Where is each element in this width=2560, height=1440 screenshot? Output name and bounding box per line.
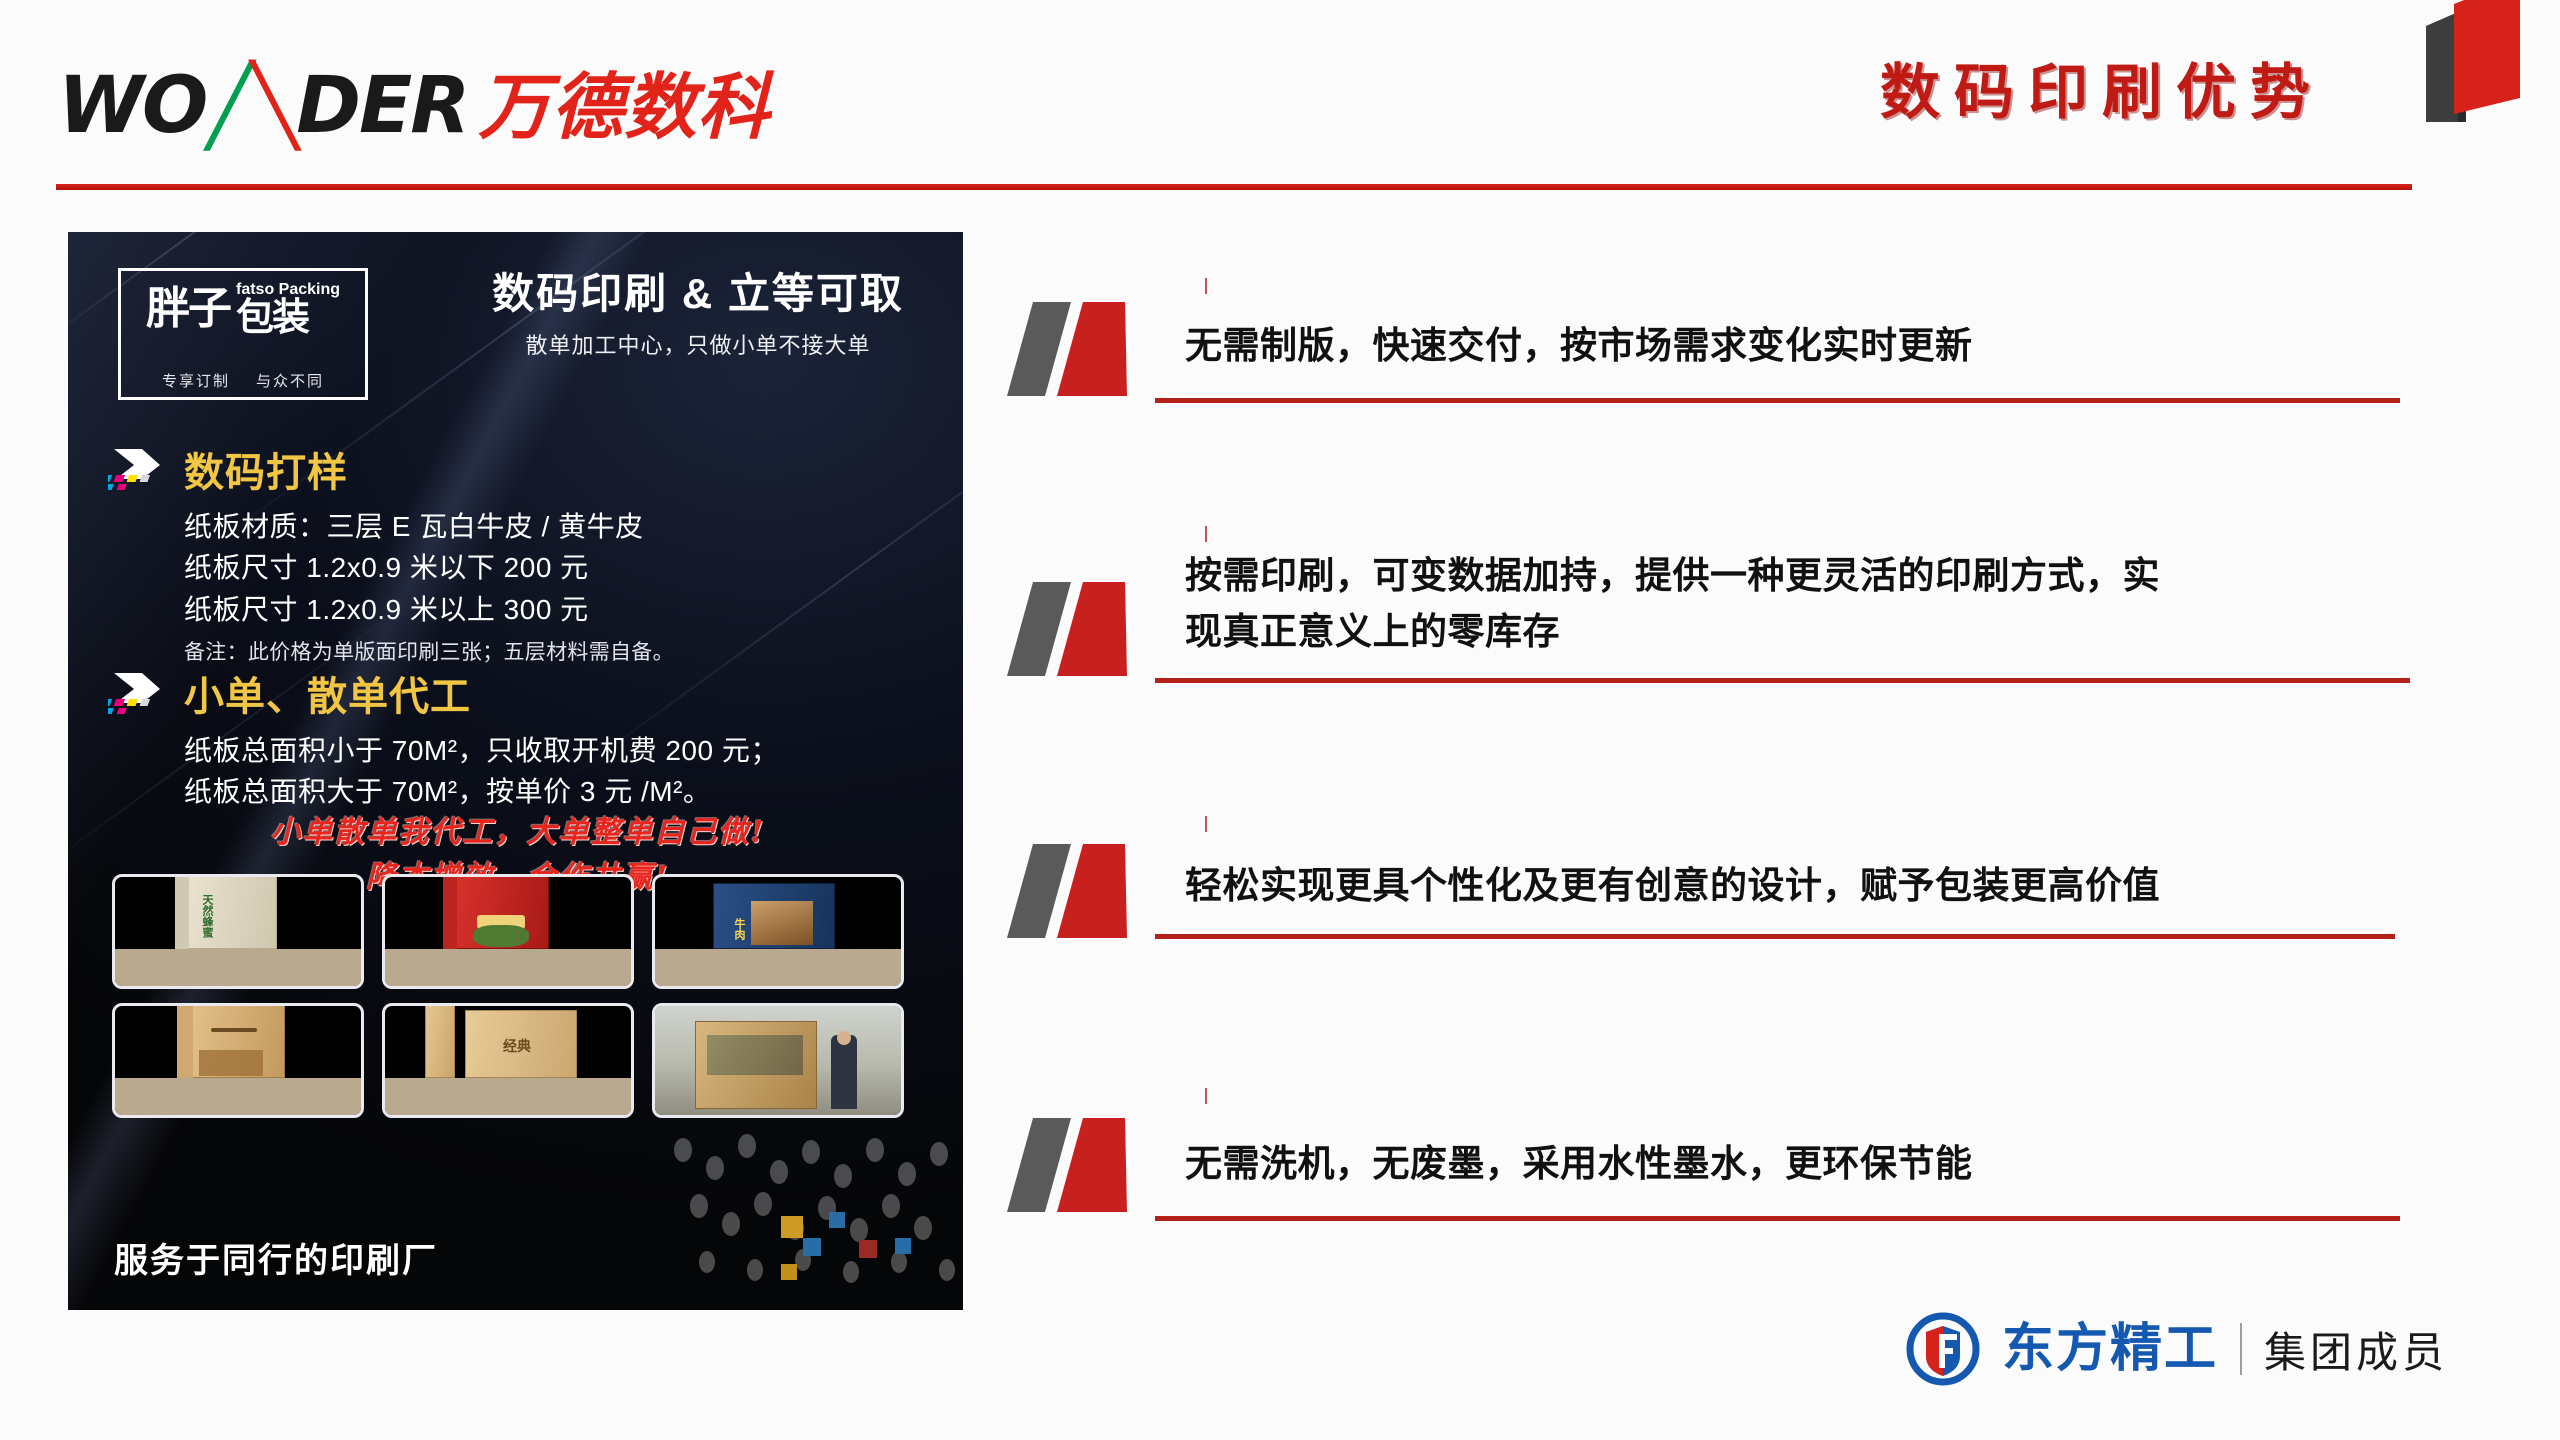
section-line: 纸板尺寸 1.2x0.9 米以上 300 元 — [184, 589, 928, 630]
slide-root: WO╱╲DER 万德数科 数码印刷优势 胖子 fatso Packing 包装 … — [0, 0, 2560, 1440]
footer-divider — [2240, 1323, 2242, 1375]
promo-poster: 胖子 fatso Packing 包装 专享订制 与众不同 数码印刷 & 立等可… — [68, 232, 963, 1310]
section-line: 纸板材质：三层 E 瓦白牛皮 / 黄牛皮 — [184, 506, 928, 547]
footer-member-label: 集团成员 — [2264, 1319, 2448, 1380]
slogan-line-1: 小单散单我代工，大单整单自己做! — [108, 810, 928, 855]
bullet-tick — [1205, 278, 1207, 294]
fatso-logo-cn: 胖子 — [146, 287, 230, 331]
section-line: 纸板总面积小于 70M²，只收取开机费 200 元； — [184, 730, 928, 771]
bullet-text: 无需洗机，无废墨，采用水性墨水，更环保节能 — [1185, 1136, 1973, 1192]
fosber-shield-icon — [1906, 1312, 1980, 1386]
bullet-underline — [1155, 678, 2410, 683]
fatso-tag-left: 专享订制 — [162, 370, 230, 391]
bullet-tick — [1205, 816, 1207, 832]
product-gallery: 天然蜂蜜 牛肉 — [112, 874, 922, 1118]
footer-brand: 东方精工 集团成员 — [1906, 1312, 2448, 1386]
poster-headline: 数码印刷 & 立等可取 — [468, 270, 928, 318]
chevron-marker-icon — [1005, 1112, 1175, 1218]
poster-section-oem: 小单、散单代工 纸板总面积小于 70M²，只收取开机费 200 元； 纸板总面积… — [108, 664, 928, 813]
bullet-line: 无需洗机，无废墨，采用水性墨水，更环保节能 — [1185, 1136, 1973, 1192]
bullet-text: 按需印刷，可变数据加持，提供一种更灵活的印刷方式，实 现真正意义上的零库存 — [1185, 548, 2160, 659]
cmyk-chevron-icon — [108, 445, 170, 493]
bullet-underline — [1155, 1216, 2400, 1221]
cmyk-chevron-icon — [108, 669, 170, 717]
gallery-item-honey-gift-box: 天然蜂蜜 — [112, 874, 364, 989]
poster-caption: 服务于同行的印刷厂 — [114, 1233, 438, 1282]
chevron-marker-icon — [1005, 838, 1175, 944]
chevron-marker-icon — [1005, 576, 1175, 682]
header-divider — [56, 184, 2412, 190]
chevron-marker-icon — [1005, 296, 1175, 402]
section-title: 小单、散单代工 — [184, 664, 471, 722]
section-note: 备注：此价格为单版面印刷三张；五层材料需自备。 — [184, 636, 928, 666]
bullet-tick — [1205, 1088, 1207, 1104]
bullet-text: 无需制版，快速交付，按市场需求变化实时更新 — [1185, 318, 1973, 374]
gallery-item-classic-kraft-set: 经典 — [382, 1003, 634, 1118]
gallery-item-blue-beef-box: 牛肉 — [652, 874, 904, 989]
fatso-logo-cn2: 包装 — [236, 299, 340, 337]
poster-section-proofing: 数码打样 纸板材质：三层 E 瓦白牛皮 / 黄牛皮 纸板尺寸 1.2x0.9 米… — [108, 440, 928, 666]
gallery-item-red-gift-box — [382, 874, 634, 989]
bullet-text: 轻松实现更具个性化及更有创意的设计，赋予包装更高价值 — [1185, 858, 2160, 914]
brand-wordmark-cn: 万德数科 — [478, 48, 770, 153]
footer-company-name: 东方精工 — [2002, 1323, 2218, 1375]
bullet-underline — [1155, 398, 2400, 403]
section-title: 数码打样 — [184, 440, 348, 498]
bullet-line: 轻松实现更具个性化及更有创意的设计，赋予包装更高价值 — [1185, 858, 2160, 914]
bullet-line: 无需制版，快速交付，按市场需求变化实时更新 — [1185, 318, 1973, 374]
poster-subheadline: 散单加工中心，只做小单不接大单 — [468, 328, 928, 360]
bullet-tick — [1205, 526, 1207, 542]
halftone-dots-decoration — [663, 1120, 963, 1310]
section-line: 纸板总面积大于 70M²，按单价 3 元 /M²。 — [184, 771, 928, 812]
gallery-item-kraft-handle-box — [112, 1003, 364, 1118]
folded-page-icon — [2420, 0, 2538, 122]
bullet-line: 现真正意义上的零库存 — [1185, 604, 2160, 660]
fatso-tag-right: 与众不同 — [256, 370, 324, 391]
wonder-brand-logo: WO╱╲DER 万德数科 — [58, 48, 770, 128]
gallery-item-large-landscape-box — [652, 1003, 904, 1118]
section-line: 纸板尺寸 1.2x0.9 米以下 200 元 — [184, 547, 928, 588]
poster-headline-block: 数码印刷 & 立等可取 散单加工中心，只做小单不接大单 — [468, 270, 928, 360]
bullet-line: 按需印刷，可变数据加持，提供一种更灵活的印刷方式，实 — [1185, 548, 2160, 604]
bullet-underline — [1155, 934, 2395, 939]
page-title: 数码印刷优势 — [1880, 44, 2324, 131]
fatso-packing-logo: 胖子 fatso Packing 包装 专享订制 与众不同 — [118, 268, 368, 400]
brand-wordmark: WO╱╲DER — [58, 67, 468, 145]
